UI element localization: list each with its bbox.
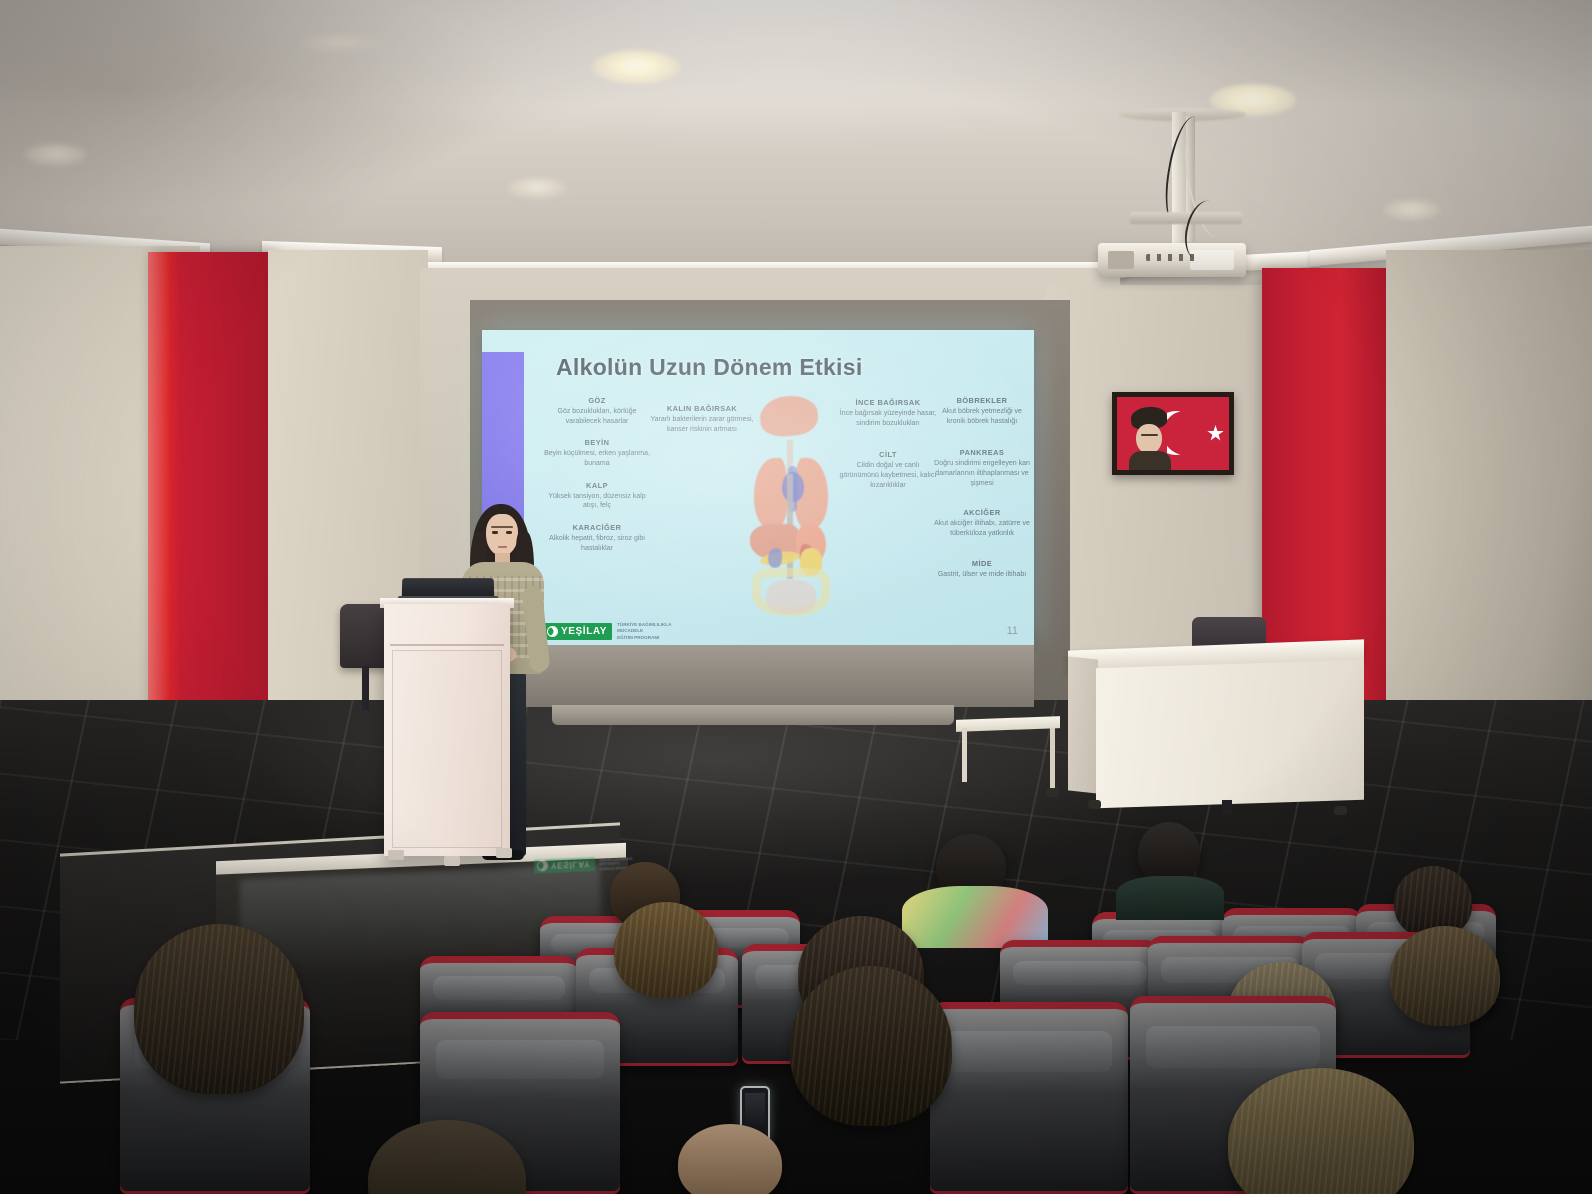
block-text: Göz bozuklukları, körlüğe varabilecek ha… — [544, 407, 650, 426]
auditorium-seat[interactable] — [930, 1002, 1128, 1194]
audience-hair-texture — [614, 902, 718, 998]
caster-wheel — [1046, 788, 1059, 797]
presenter-eyebrows — [491, 526, 513, 528]
block-text: Akut akciğer iltihabı, zatürre ve tüberk… — [934, 519, 1030, 538]
slide-block: KALP Yüksek tansiyon, düzensiz kalp atış… — [544, 481, 650, 511]
block-text: Yüksek tansiyon, düzensiz kalp atışı, fe… — [544, 492, 650, 511]
crescent-inner-cut — [1169, 416, 1203, 450]
side-table-leg — [962, 728, 967, 784]
slide-block: BEYİN Beyin küçülmesi, erken yaşlanma, b… — [544, 438, 650, 468]
projector-port-panel — [1146, 254, 1196, 261]
slide-column-d: BÖBREKLER Akut böbrek yetmezliği ve kron… — [934, 396, 1030, 591]
block-text: Akut böbrek yetmezliği ve kronik böbrek … — [934, 407, 1030, 426]
auditorium-presentation-photo: Alkolün Uzun Dönem Etkisi — [0, 0, 1592, 1194]
audience-hair-texture — [134, 924, 304, 1094]
block-text: Gastrit, ülser ve mide iltihabı — [934, 570, 1030, 580]
audience-hair-texture — [790, 966, 952, 1126]
logo-wordmark: YEŞİLAY — [561, 626, 607, 637]
flag-field — [1117, 397, 1229, 470]
presenter-eye-right — [506, 531, 512, 534]
caster-wheel — [1088, 800, 1101, 809]
logo-subtitle-line-3: EĞİTİM PROGRAMI — [617, 635, 671, 641]
slide-column-a: GÖZ Göz bozuklukları, körlüğe varabilece… — [544, 396, 650, 565]
projection-screen[interactable]: Alkolün Uzun Dönem Etkisi — [482, 330, 1034, 645]
heart-organ — [782, 472, 804, 502]
presentation-slide: Alkolün Uzun Dönem Etkisi — [482, 330, 1034, 645]
block-text: Cildin doğal ve canlı görünümünü kaybetm… — [838, 461, 938, 490]
slide-block: KALIN BAĞIRSAK Yararlı bakterilerin zara… — [650, 404, 754, 434]
brain-organ — [758, 393, 820, 439]
side-table-leg — [1050, 728, 1055, 788]
ataturk-portrait — [1128, 407, 1172, 470]
slide-column-b: KALIN BAĞIRSAK Yararlı bakterilerin zara… — [650, 404, 754, 446]
recessed-downlight-5 — [1384, 200, 1440, 220]
slide-block: MİDE Gastrit, ülser ve mide iltihabı — [934, 559, 1030, 580]
podium-front-panel — [392, 650, 502, 848]
block-heading: İNCE BAĞIRSAK — [838, 398, 938, 407]
slide-block: PANKREAS Doğru sindirimi engelleyen kan … — [934, 448, 1030, 488]
laptop-screen[interactable] — [402, 578, 494, 598]
slide-block: İNCE BAĞIRSAK İnce bağırsak yüzeyinde ha… — [838, 398, 938, 428]
slide-block: KARACİĞER Alkolik hepatit, fibroz, siroz… — [544, 523, 650, 553]
star-icon — [1207, 425, 1224, 442]
audience-shoulders-patterned — [902, 886, 1048, 948]
slide-block: CİLT Cildin doğal ve canlı görünümünü ka… — [838, 450, 938, 490]
caster-wheel — [1334, 806, 1347, 815]
kidney-left-organ — [768, 548, 782, 568]
recessed-downlight-4 — [508, 178, 566, 198]
logo-badge: YEŞİLAY — [544, 623, 612, 640]
block-text: Doğru sindirimi engelleyen kan damarları… — [934, 459, 1030, 488]
audience-area — [0, 820, 1592, 1194]
caster-wheel — [956, 782, 969, 791]
desk-front-panel — [1096, 660, 1364, 808]
office-chair-base — [1222, 800, 1232, 814]
projector-bracket — [1130, 212, 1242, 224]
block-text: Alkolik hepatit, fibroz, siroz gibi hast… — [544, 534, 650, 553]
portrait-face — [1136, 424, 1162, 454]
audience-hair-texture — [1390, 926, 1500, 1026]
block-heading: AKCİĞER — [934, 508, 1030, 517]
block-text: Beyin küçülmesi, erken yaşlanma, bunama — [544, 449, 650, 468]
audience-shoulders — [1116, 876, 1224, 920]
block-heading: BÖBREKLER — [934, 396, 1030, 405]
block-heading: GÖZ — [544, 396, 650, 405]
audience-head — [1138, 822, 1200, 884]
slide-column-c: İNCE BAĞIRSAK İnce bağırsak yüzeyinde ha… — [838, 398, 938, 502]
logo-subtitle: TÜRKİYE BAĞIMLILIKLA MÜCADELE EĞİTİM PRO… — [617, 622, 671, 641]
slide-title: Alkolün Uzun Dönem Etkisi — [556, 354, 996, 381]
screen-roller-casing — [552, 705, 954, 725]
yesilay-logo: YEŞİLAY TÜRKİYE BAĞIMLILIKLA MÜCADELE EĞ… — [544, 622, 671, 641]
screen-lower-surround — [482, 645, 1034, 707]
block-heading: MİDE — [934, 559, 1030, 568]
block-text: İnce bağırsak yüzeyinde hasar, sindirim … — [838, 409, 938, 428]
block-text: Yararlı bakterilerin zarar görmesi, kans… — [650, 415, 754, 434]
chair-stem — [362, 666, 369, 710]
slide-number: 11 — [1007, 625, 1018, 637]
portrait-torso — [1129, 451, 1171, 470]
recessed-downlight-3 — [24, 144, 86, 166]
block-heading: KALP — [544, 481, 650, 490]
framed-turkish-flag-ataturk-portrait — [1112, 392, 1234, 475]
slide-block: AKCİĞER Akut akciğer iltihabı, zatürre v… — [934, 508, 1030, 538]
recessed-downlight-1 — [592, 50, 680, 84]
audience-hand-holding-phone — [678, 1124, 782, 1194]
presenter-face — [486, 514, 518, 556]
block-heading: PANKREAS — [934, 448, 1030, 457]
desk-side-panel — [1068, 656, 1098, 793]
block-heading: KALIN BAĞIRSAK — [650, 404, 754, 413]
small-intestine-organ — [766, 580, 816, 614]
slide-block: BÖBREKLER Akut böbrek yetmezliği ve kron… — [934, 396, 1030, 426]
slide-block: GÖZ Göz bozuklukları, körlüğe varabilece… — [544, 396, 650, 426]
podium-seam — [390, 644, 504, 646]
block-heading: KARACİĞER — [544, 523, 650, 532]
presenter-eye-left — [492, 531, 498, 534]
block-heading: CİLT — [838, 450, 938, 459]
block-heading: BEYİN — [544, 438, 650, 447]
recessed-downlight-6 — [300, 34, 380, 52]
